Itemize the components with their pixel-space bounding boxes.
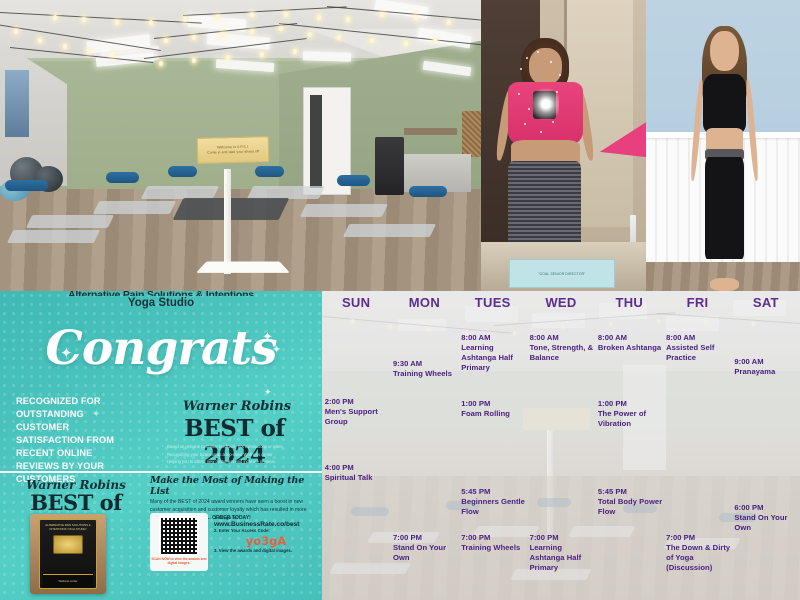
business-name-line2: Yoga Studio	[0, 297, 322, 310]
schedule-day-headers: SUN MON TUES WED THU FRI SAT	[322, 295, 800, 310]
class-event[interactable]: 1:00 PMThe Power of Vibration	[598, 399, 664, 429]
bolster	[337, 175, 371, 186]
schedule-column-sun: 2:00 PMMen's Support Group4:00 PMSpiritu…	[322, 315, 390, 600]
plaque-category: Wellness center	[58, 580, 77, 583]
person-after	[689, 23, 760, 291]
class-time: 1:00 PM	[461, 399, 527, 409]
head	[710, 31, 738, 71]
schedule-column-fri: 8:00 AMAssisted Self Practice7:00 PMThe …	[663, 315, 731, 600]
class-event[interactable]: 2:00 PMMen's Support Group	[325, 397, 391, 427]
before-mirror-selfie-photo: "GOAL SENIOR DIRECTOR"	[481, 0, 646, 291]
business-name-line1: Alternative Pain Solutions & Intentions	[0, 291, 322, 296]
qr-caption: SCAN NOW to view the awards and digital …	[150, 557, 208, 565]
class-name: Total Body Power Flow	[598, 497, 664, 517]
arm-right	[744, 79, 759, 181]
day-header-thu: THU	[595, 295, 663, 310]
award-city: Warner Robins	[172, 399, 302, 414]
class-name: The Down & Dirty of Yoga (Discussion)	[666, 543, 732, 573]
class-name: Learning Ashtanga Half Primary	[530, 543, 596, 573]
feet	[710, 278, 738, 291]
sparkle-icon: ✦	[272, 343, 281, 356]
class-name: Pranayama	[734, 367, 800, 377]
welcome-sign: Welcome to A.P.S.I.Come in and take your…	[197, 136, 270, 164]
access-steps: 1. Or, go to: www.BusinessRate.co/best 2…	[208, 513, 318, 571]
head	[529, 48, 562, 84]
class-name: Stand On Your Own	[734, 513, 800, 533]
class-time: 7:00 PM	[666, 533, 732, 543]
yoga-mat	[300, 204, 388, 217]
congrats-award-card: Alternative Pain Solutions & Intentions …	[0, 291, 322, 600]
class-name: Stand On Your Own	[393, 543, 459, 563]
yoga-mat	[93, 201, 176, 214]
class-event[interactable]: 1:00 PMFoam Rolling	[461, 399, 527, 419]
wall-shelf	[404, 128, 457, 135]
class-event[interactable]: 8:00 AMLearning Ashtanga Half Primary	[461, 333, 527, 373]
class-name: Foam Rolling	[461, 409, 527, 419]
award-bullet: Based on genuine customer feedback, not …	[162, 443, 312, 451]
weekly-class-schedule: SUN MON TUES WED THU FRI SAT 2:00 PMMen'…	[322, 291, 800, 600]
after-transformation-photo	[646, 0, 800, 291]
window	[5, 70, 29, 137]
sparkle-icon: ✦	[264, 387, 272, 398]
step-3: 3. View the awards and digital images.	[214, 548, 318, 554]
class-time: 7:00 PM	[461, 533, 527, 543]
camera-flash	[533, 85, 559, 123]
wall-art	[462, 111, 481, 158]
class-name: Training Wheels	[393, 369, 459, 379]
access-code: yo3gA	[214, 535, 318, 548]
class-name: Assisted Self Practice	[666, 343, 732, 363]
class-event[interactable]: 5:45 PMTotal Body Power Flow	[598, 487, 664, 517]
collage-page: Welcome to A.P.S.I.Come in and take your…	[0, 0, 800, 600]
yoga-mat-dark	[173, 198, 290, 220]
class-name: Broken Ashtanga	[598, 343, 664, 353]
class-time: 5:45 PM	[598, 487, 664, 497]
day-header-wed: WED	[527, 295, 595, 310]
class-name: Beginners Gentle Flow	[461, 497, 527, 517]
sparkle-icon: ✦	[48, 333, 57, 346]
yoga-mat	[26, 215, 114, 228]
award-seal-icon	[53, 535, 83, 554]
day-header-mon: MON	[390, 295, 458, 310]
class-time: 9:30 AM	[393, 359, 459, 369]
class-event[interactable]: 8:00 AMAssisted Self Practice	[666, 333, 732, 363]
class-event[interactable]: 6:00 PMStand On Your Own	[734, 503, 800, 533]
class-name: Men's Support Group	[325, 407, 391, 427]
class-name: Training Wheels	[461, 543, 527, 553]
photo-row: Welcome to A.P.S.I.Come in and take your…	[0, 0, 800, 291]
class-event[interactable]: 7:00 PMThe Down & Dirty of Yoga (Discuss…	[666, 533, 732, 573]
bolster	[409, 186, 447, 197]
class-name: The Power of Vibration	[598, 409, 664, 429]
class-name: Learning Ashtanga Half Primary	[461, 343, 527, 373]
class-time: 8:00 AM	[530, 333, 596, 343]
qr-and-steps: SCAN NOW to view the awards and digital …	[150, 513, 318, 571]
class-time: 8:00 AM	[461, 333, 527, 343]
award-bullets: Based on genuine customer feedback, not …	[162, 443, 312, 466]
yoga-mat	[6, 230, 99, 243]
award-plaque: ALTERNATIVE PAIN SOLUTIONS & INTENTIONS …	[39, 519, 97, 589]
bolster	[255, 166, 284, 177]
class-event[interactable]: 4:00 PMSpiritual Talk	[325, 463, 391, 483]
class-event[interactable]: 7:00 PMTraining Wheels	[461, 533, 527, 553]
class-time: 4:00 PM	[325, 463, 391, 473]
sign-stand	[224, 169, 231, 274]
class-time: 2:00 PM	[325, 397, 391, 407]
class-time: 9:00 AM	[734, 357, 800, 367]
class-time: 8:00 AM	[598, 333, 664, 343]
day-header-fri: FRI	[663, 295, 731, 310]
schedule-column-sat: 9:00 AMPranayama6:00 PMStand On Your Own	[732, 315, 800, 600]
class-event[interactable]: 7:00 PMLearning Ashtanga Half Primary	[530, 533, 596, 573]
schedule-grid: 2:00 PMMen's Support Group4:00 PMSpiritu…	[322, 315, 800, 600]
bolster	[5, 180, 48, 191]
schedule-column-thu: 8:00 AMBroken Ashtanga1:00 PMThe Power o…	[595, 315, 663, 600]
yoga-studio-room-photo: Welcome to A.P.S.I.Come in and take your…	[0, 0, 481, 291]
award-bullet: Helping you to attract new customers and…	[162, 458, 312, 466]
goal-sign-text: "GOAL SENIOR DIRECTOR"	[538, 272, 585, 276]
person-before	[502, 38, 588, 250]
business-name: Alternative Pain Solutions & Intentions …	[0, 291, 322, 310]
schedule-column-mon: 9:30 AMTraining Wheels7:00 PMStand On Yo…	[390, 315, 458, 600]
class-name: Spiritual Talk	[325, 473, 391, 483]
water-cooler	[375, 137, 404, 195]
class-event[interactable]: 9:00 AMPranayama	[734, 357, 800, 377]
schedule-column-tues: 8:00 AMLearning Ashtanga Half Primary1:0…	[459, 315, 527, 600]
class-time: 6:00 PM	[734, 503, 800, 513]
welcome-sign-text: Welcome to A.P.S.I.Come in and take your…	[207, 144, 259, 155]
plaque-photo: ALTERNATIVE PAIN SOLUTIONS & INTENTIONS …	[30, 514, 106, 594]
striped-skirt	[508, 161, 582, 254]
class-event[interactable]: 7:00 PMStand On Your Own	[393, 533, 459, 563]
class-time: 1:00 PM	[598, 399, 664, 409]
sparkle-icon: ✦	[60, 344, 73, 362]
award-site-url[interactable]: www.BusinessRate.co/best	[214, 521, 318, 528]
schedule-column-wed: 8:00 AMTone, Strength, & Balance7:00 PML…	[527, 315, 595, 600]
day-header-sun: SUN	[322, 295, 390, 310]
bolster	[106, 172, 140, 183]
class-time: 8:00 AM	[666, 333, 732, 343]
goal-senior-director-sign: "GOAL SENIOR DIRECTOR"	[509, 259, 615, 288]
card-lower-section: Warner Robins BEST of 2024 ALTERNATIVE P…	[0, 473, 322, 600]
make-the-most-title: Make the Most of Making the List	[150, 475, 318, 497]
class-event[interactable]: 9:30 AMTraining Wheels	[393, 359, 459, 379]
class-time: 7:00 PM	[393, 533, 459, 543]
yoga-mat	[343, 224, 436, 237]
qr-code-icon[interactable]	[159, 516, 199, 556]
black-leggings	[705, 157, 745, 259]
class-time: 7:00 PM	[530, 533, 596, 543]
class-name: Tone, Strength, & Balance	[530, 343, 596, 363]
black-sports-bra	[703, 74, 745, 133]
plaque-top-text: ALTERNATIVE PAIN SOLUTIONS & INTENTIONS …	[43, 524, 93, 532]
day-header-sat: SAT	[732, 295, 800, 310]
sign-base	[196, 261, 289, 272]
award-bullet: Recognizing your business as a top-rated…	[162, 451, 312, 459]
plaque-bottom: Wellness center	[43, 574, 92, 588]
class-event[interactable]: 5:45 PMBeginners Gentle Flow	[461, 487, 527, 517]
qr-block[interactable]: SCAN NOW to view the awards and digital …	[150, 513, 208, 571]
order-panel: Make the Most of Making the List Many of…	[150, 475, 318, 599]
class-event[interactable]: 8:00 AMBroken Ashtanga	[598, 333, 664, 353]
class-time: 5:45 PM	[461, 487, 527, 497]
bolster	[168, 166, 197, 177]
door-glass	[310, 95, 322, 188]
day-header-tues: TUES	[459, 295, 527, 310]
class-event[interactable]: 8:00 AMTone, Strength, & Balance	[530, 333, 596, 363]
